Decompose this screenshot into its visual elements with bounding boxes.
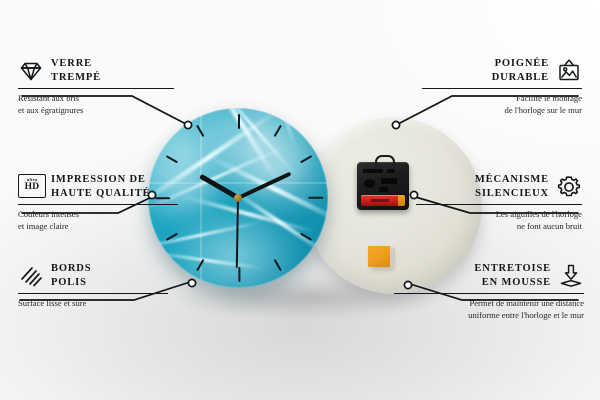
clock-movement-mechanism bbox=[357, 162, 409, 210]
feature-title-line1: VERRE bbox=[51, 57, 101, 71]
hanging-hook-icon bbox=[375, 155, 395, 167]
feature-divider bbox=[422, 88, 582, 89]
clock-center-cap bbox=[234, 194, 242, 202]
feature-divider bbox=[18, 88, 174, 89]
battery-positive-cap bbox=[398, 195, 405, 206]
foam-spacer-arrow-icon bbox=[558, 263, 584, 289]
feature-desc-line2: ne font aucun bruit bbox=[416, 221, 582, 232]
ultra-hd-icon: ultra HD bbox=[18, 174, 44, 200]
feature-divider bbox=[18, 204, 178, 205]
gear-icon bbox=[556, 174, 582, 200]
feature-mecanisme-silencieux: MÉCANISME SILENCIEUX Les aiguilles de l'… bbox=[416, 173, 582, 232]
feature-desc-line2: et image claire bbox=[18, 221, 178, 232]
movement-detail bbox=[379, 187, 388, 192]
feature-title-line1: BORDS bbox=[51, 262, 91, 276]
feature-title-line1: IMPRESSION DE bbox=[51, 173, 150, 187]
movement-detail bbox=[387, 169, 395, 173]
feature-bords-polis: BORDS POLIS Surface lisse et sûre bbox=[18, 262, 168, 310]
feature-title-line2: EN MOUSSE bbox=[474, 276, 551, 290]
movement-detail bbox=[363, 169, 383, 173]
feature-title-line2: SILENCIEUX bbox=[475, 187, 549, 201]
feature-header: MÉCANISME SILENCIEUX bbox=[416, 173, 582, 200]
feature-poignee-durable: POIGNÉE DURABLE Facilite le montage de l… bbox=[422, 57, 582, 116]
feature-title-line1: ENTRETOISE bbox=[474, 262, 551, 276]
feature-title-line1: MÉCANISME bbox=[475, 173, 549, 187]
feature-divider bbox=[18, 293, 168, 294]
battery-band bbox=[371, 199, 389, 202]
feature-impression-haute-qualite: ultra HD IMPRESSION DE HAUTE QUALITÉ Cou… bbox=[18, 173, 178, 232]
feature-header: ultra HD IMPRESSION DE HAUTE QUALITÉ bbox=[18, 173, 178, 200]
feature-title-line1: POIGNÉE bbox=[492, 57, 549, 71]
feature-desc-line1: Permet de maintenir une distance bbox=[394, 298, 584, 309]
movement-detail bbox=[381, 178, 397, 184]
diamond-icon bbox=[18, 58, 44, 84]
feature-desc-line1: Résistant aux bris bbox=[18, 93, 174, 104]
feature-desc-line1: Facilite le montage bbox=[422, 93, 582, 104]
feature-desc-line1: Surface lisse et sûre bbox=[18, 298, 168, 309]
feature-desc-line2: et aux égratignures bbox=[18, 105, 174, 116]
feature-divider bbox=[416, 204, 582, 205]
feature-title-line2: DURABLE bbox=[492, 71, 549, 85]
feature-header: VERRE TREMPÉ bbox=[18, 57, 174, 84]
movement-detail bbox=[364, 179, 375, 188]
feature-desc-line2: de l'horloge sur le mur bbox=[422, 105, 582, 116]
feature-header: ENTRETOISE EN MOUSSE bbox=[394, 262, 584, 289]
feature-desc-line1: Couleurs intenses bbox=[18, 209, 178, 220]
feature-verre-trempe: VERRE TREMPÉ Résistant aux bris et aux é… bbox=[18, 57, 174, 116]
feature-entretoise-en-mousse: ENTRETOISE EN MOUSSE Permet de maintenir… bbox=[394, 262, 584, 321]
feature-header: POIGNÉE DURABLE bbox=[422, 57, 582, 84]
infographic-scene: VERRE TREMPÉ Résistant aux bris et aux é… bbox=[0, 0, 600, 400]
aa-battery bbox=[361, 195, 405, 206]
polished-edges-icon bbox=[18, 263, 44, 289]
feature-title-line2: HAUTE QUALITÉ bbox=[51, 187, 150, 201]
feature-desc-line2: uniforme entre l'horloge et le mur bbox=[394, 310, 584, 321]
feature-title-line2: TREMPÉ bbox=[51, 71, 101, 85]
feature-title-line2: POLIS bbox=[51, 276, 91, 290]
foam-spacer-pad bbox=[368, 246, 390, 267]
hanging-frame-icon bbox=[556, 58, 582, 84]
ultra-hd-icon-main-label: HD bbox=[25, 183, 40, 193]
feature-desc-line1: Les aiguilles de l'horloge bbox=[416, 209, 582, 220]
feature-divider bbox=[394, 293, 584, 294]
feature-header: BORDS POLIS bbox=[18, 262, 168, 289]
